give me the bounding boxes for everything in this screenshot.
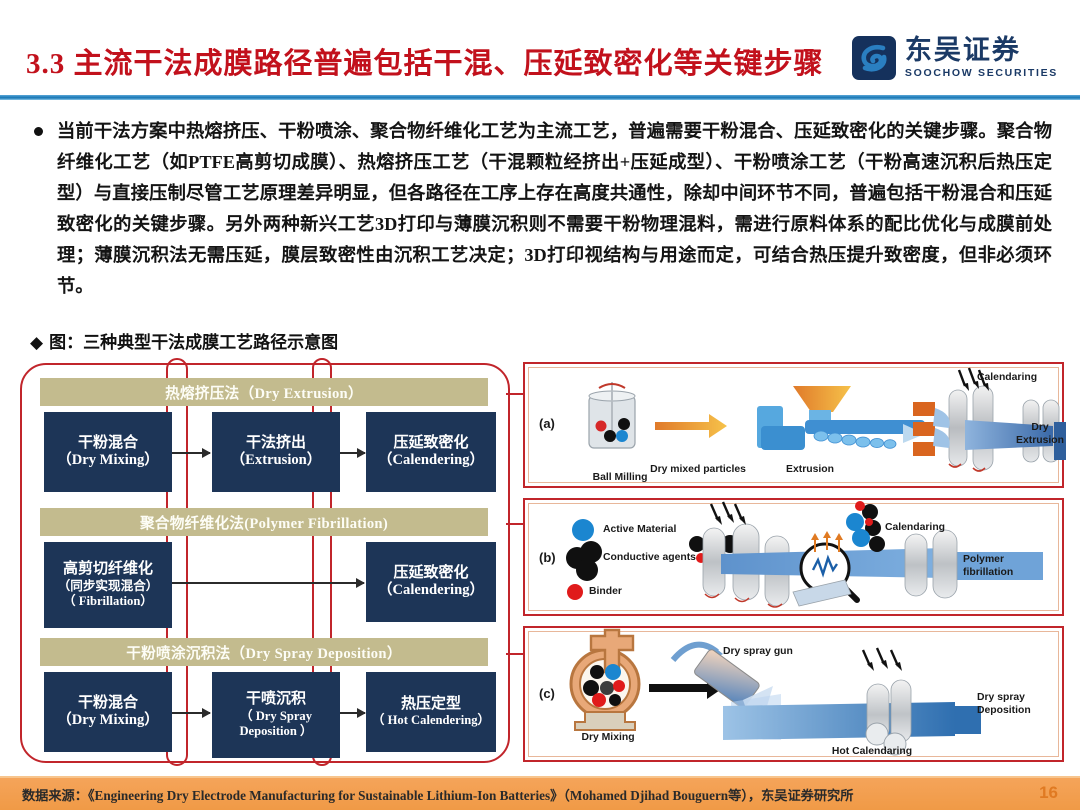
header-divider: [0, 95, 1080, 100]
page-number: 16: [1039, 783, 1058, 803]
slide-header: 3.3 主流干法成膜路径普遍包括干混、压延致密化等关键步骤 东吴证券 SOOCH…: [0, 0, 1080, 96]
flow-box-cn: 干粉混合: [78, 434, 138, 452]
flow-box-calendering-2[interactable]: 压延致密化 （Calendering）: [366, 542, 496, 622]
flow-box-en: （Calendering）: [378, 452, 484, 470]
flow-box-en: （Calendering）: [378, 582, 484, 600]
flow-box-cn: 干法挤出: [246, 434, 306, 452]
flow-box-spray-deposition[interactable]: 干喷沉积 （ Dry Spray Deposition ）: [212, 672, 340, 758]
figure-caption: ◆图：三种典型干法成膜工艺路径示意图: [30, 328, 338, 353]
brand-logo: 东吴证券 SOOCHOW SECURITIES: [852, 36, 1058, 80]
flow-row-polymer-fibrillation: 聚合物纤维化法(Polymer Fibrillation) 高剪切纤维化 （同步…: [40, 508, 488, 628]
panel-c-label-dry-spray-deposition: Dry spray Deposition: [977, 692, 1061, 717]
flow-box-cn: 干喷沉积: [246, 690, 306, 708]
panel-a-label-extrusion: Extrusion: [765, 464, 855, 477]
illustration-panels: (a): [523, 360, 1064, 772]
row-band-label: 干粉喷涂沉积法（Dry Spray Deposition）: [40, 638, 488, 666]
panel-b-label-polymer-fibrillation: Polymer fibrillation: [963, 554, 1061, 579]
slide-footer: 数据来源：《Engineering Dry Electrode Manufact…: [0, 778, 1080, 810]
row-band-label: 聚合物纤维化法(Polymer Fibrillation): [40, 508, 488, 536]
flow-box-en: （Extrusion）: [231, 452, 322, 470]
flow-box-cn: 压延致密化: [393, 434, 468, 452]
flow-box-hot-calendering[interactable]: 热压定型 （ Hot Calendering）: [366, 672, 496, 752]
flow-box-fibrillation[interactable]: 高剪切纤维化 （同步实现混合） （ Fibrillation）: [44, 542, 172, 628]
panel-c-label-dry-spray-gun: Dry spray gun: [723, 646, 833, 659]
flow-box-en2: Deposition ）: [239, 724, 312, 739]
figure-caption-text: 图：三种典型干法成膜工艺路径示意图: [49, 333, 338, 352]
flow-box-dry-mixing-2[interactable]: 干粉混合 （Dry Mixing）: [44, 672, 172, 752]
flow-box-cn: 干粉混合: [78, 694, 138, 712]
diamond-icon: ◆: [30, 333, 43, 352]
flow-box-cn: 高剪切纤维化: [63, 560, 153, 578]
flow-row-dry-spray-deposition: 干粉喷涂沉积法（Dry Spray Deposition） 干粉混合 （Dry …: [40, 638, 488, 758]
arrow-icon-3: [172, 582, 364, 584]
body-paragraph: 当前干法方案中热熔挤压、干粉喷涂、聚合物纤维化工艺为主流工艺，普遍需要干粉混合、…: [57, 116, 1052, 302]
flow-box-dry-mixing[interactable]: 干粉混合 （Dry Mixing）: [44, 412, 172, 492]
panel-polymer-fibrillation: (b): [523, 498, 1064, 616]
logo-cn-text: 东吴证券: [905, 37, 1058, 64]
source-note: 数据来源：《Engineering Dry Electrode Manufact…: [22, 785, 853, 804]
logo-en-text: SOOCHOW SECURITIES: [905, 68, 1058, 79]
arrow-icon-4: [172, 712, 210, 714]
panel-b-label-active-material: Active Material: [603, 524, 733, 537]
flow-row-dry-extrusion: 热熔挤压法（Dry Extrusion） 干粉混合 （Dry Mixing） 干…: [40, 378, 488, 498]
flow-box-cn: 热压定型: [401, 695, 461, 713]
panel-c-label-hot-calendaring: Hot Calendaring: [807, 746, 937, 759]
panel-a-label-dry-extrusion: Dry Extrusion: [1013, 422, 1067, 447]
panel-a-label-calendaring: Calendaring: [977, 372, 1067, 385]
process-flowchart: 热熔挤压法（Dry Extrusion） 干粉混合 （Dry Mixing） 干…: [18, 360, 518, 772]
panel-dry-extrusion: (a): [523, 362, 1064, 488]
arrow-icon-5: [340, 712, 365, 714]
panel-b-label-binder: Binder: [589, 586, 679, 599]
flow-box-calendering[interactable]: 压延致密化 （Calendering）: [366, 412, 496, 492]
flow-box-en: （ Hot Calendering）: [372, 713, 490, 728]
flow-box-en: （ Dry Spray: [240, 709, 312, 724]
panel-dry-spray-deposition: (c): [523, 626, 1064, 762]
arrow-icon-1: [172, 452, 210, 454]
panel-b-label-conductive-agents: Conductive agents: [603, 552, 743, 565]
row-band-label: 热熔挤压法（Dry Extrusion）: [40, 378, 488, 406]
flow-box-cn: 压延致密化: [393, 564, 468, 582]
flow-box-en2: （ Fibrillation）: [63, 594, 153, 609]
flow-box-en: （Dry Mixing）: [57, 452, 159, 470]
panel-c-label-dry-mixing: Dry Mixing: [563, 732, 653, 745]
panel-a-label-dry-mixed-particles: Dry mixed particles: [643, 464, 753, 477]
flow-box-extrusion[interactable]: 干法挤出 （Extrusion）: [212, 412, 340, 492]
page-title: 3.3 主流干法成膜路径普遍包括干混、压延致密化等关键步骤: [26, 40, 824, 82]
soochow-logo-icon: [852, 36, 896, 80]
flow-box-en: （Dry Mixing）: [57, 712, 159, 730]
arrow-icon-2: [340, 452, 365, 454]
figure-area: 热熔挤压法（Dry Extrusion） 干粉混合 （Dry Mixing） 干…: [18, 360, 1064, 772]
bullet-dot-icon: [34, 127, 43, 136]
flow-box-en: （同步实现混合）: [58, 579, 159, 594]
body-text-block: 当前干法方案中热熔挤压、干粉喷涂、聚合物纤维化工艺为主流工艺，普遍需要干粉混合、…: [30, 116, 1052, 302]
panel-b-label-calendaring: Calendaring: [865, 522, 965, 535]
slide-page: 3.3 主流干法成膜路径普遍包括干混、压延致密化等关键步骤 东吴证券 SOOCH…: [0, 0, 1080, 810]
